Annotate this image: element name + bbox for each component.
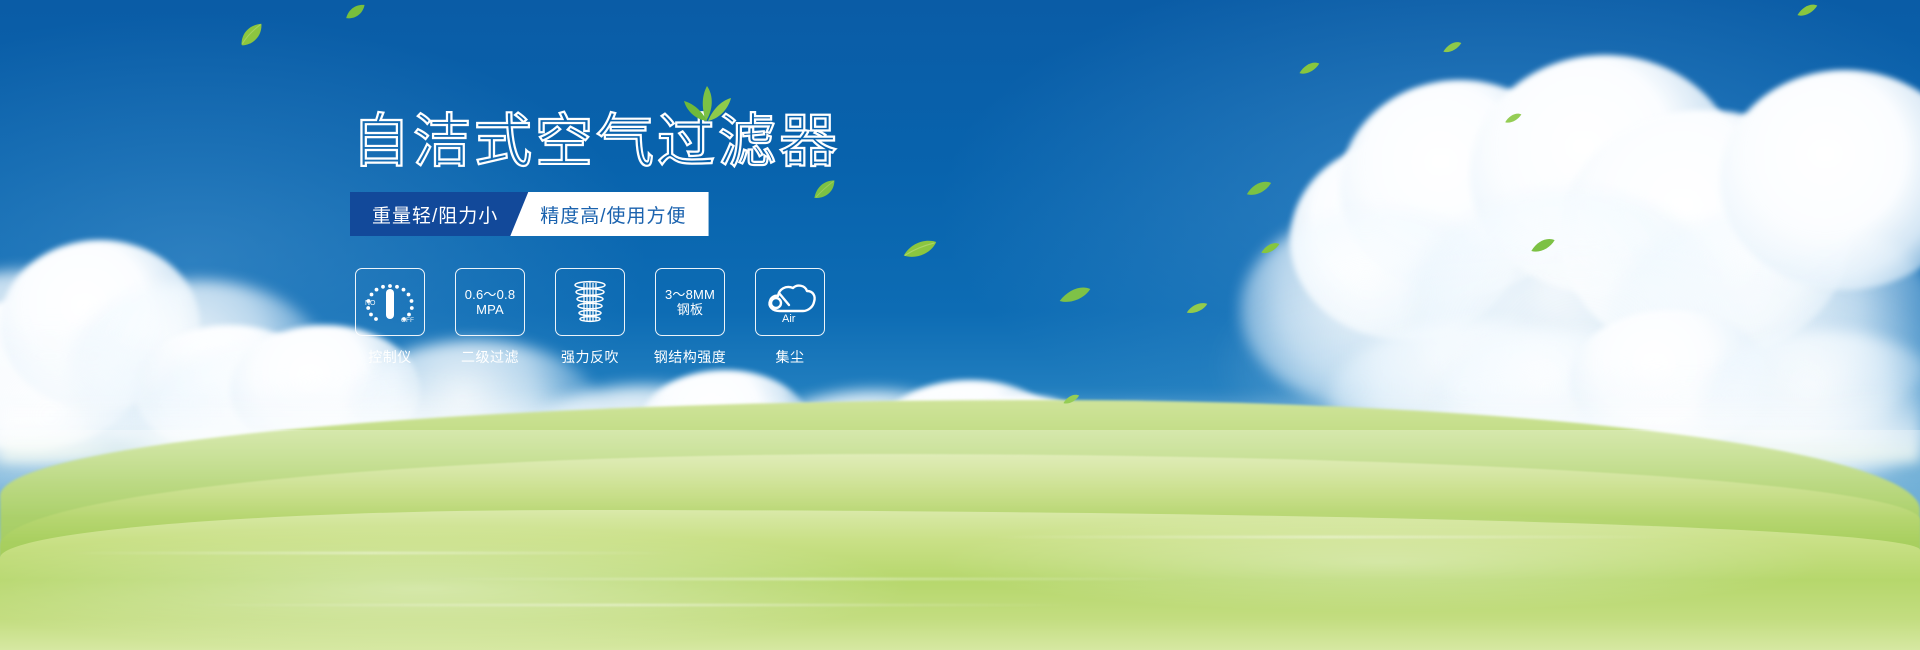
feature-icon-row: NO OFF 控制仪 0.6～0.8 MPA 二级过滤 [355,268,825,367]
feature-label: 控制仪 [368,347,412,367]
filter-cartridge-icon [565,277,615,327]
feature-label: 强力反吹 [561,347,619,367]
feature-label: 二级过滤 [461,347,519,367]
feature-box: NO OFF [355,268,425,336]
svg-text:NO: NO [365,300,376,307]
steel-thickness-line2: 钢板 [677,302,703,317]
feature-label: 集尘 [776,347,805,367]
cloud-air-icon: Air [762,279,818,325]
product-banner: 自洁式空气过滤器 重量轻/阻力小 精度高/使用方便 [0,0,1920,650]
tag-weight-resistance[interactable]: 重量轻/阻力小 [350,192,528,236]
feature-backblow[interactable]: 强力反吹 [555,268,625,367]
pressure-value-line2: MPA [476,302,504,317]
feature-dust-collection[interactable]: Air 集尘 [755,268,825,367]
tag-precision-convenience[interactable]: 精度高/使用方便 [510,192,708,236]
feature-tags: 重量轻/阻力小 精度高/使用方便 [350,192,709,236]
svg-text:Air: Air [782,313,796,325]
svg-text:OFF: OFF [401,317,414,324]
feature-controller[interactable]: NO OFF 控制仪 [355,268,425,367]
title-block: 自洁式空气过滤器 [352,112,840,170]
feature-box [555,268,625,336]
feature-steel-structure[interactable]: 3～8MM 钢板 钢结构强度 [655,268,725,367]
feature-box: 0.6～0.8 MPA [455,268,525,336]
gauge-dial-icon: NO OFF [361,277,419,327]
feature-box: 3～8MM 钢板 [655,268,725,336]
steel-thickness-line1: 3～8MM [665,287,715,302]
feature-box: Air [755,268,825,336]
pressure-value-line1: 0.6～0.8 [465,287,516,302]
banner-content: 自洁式空气过滤器 重量轻/阻力小 精度高/使用方便 [0,0,1920,650]
page-title: 自洁式空气过滤器 [352,112,840,170]
feature-pressure[interactable]: 0.6～0.8 MPA 二级过滤 [455,268,525,367]
feature-label: 钢结构强度 [654,347,727,367]
leaf-sprig-icon [679,80,735,122]
